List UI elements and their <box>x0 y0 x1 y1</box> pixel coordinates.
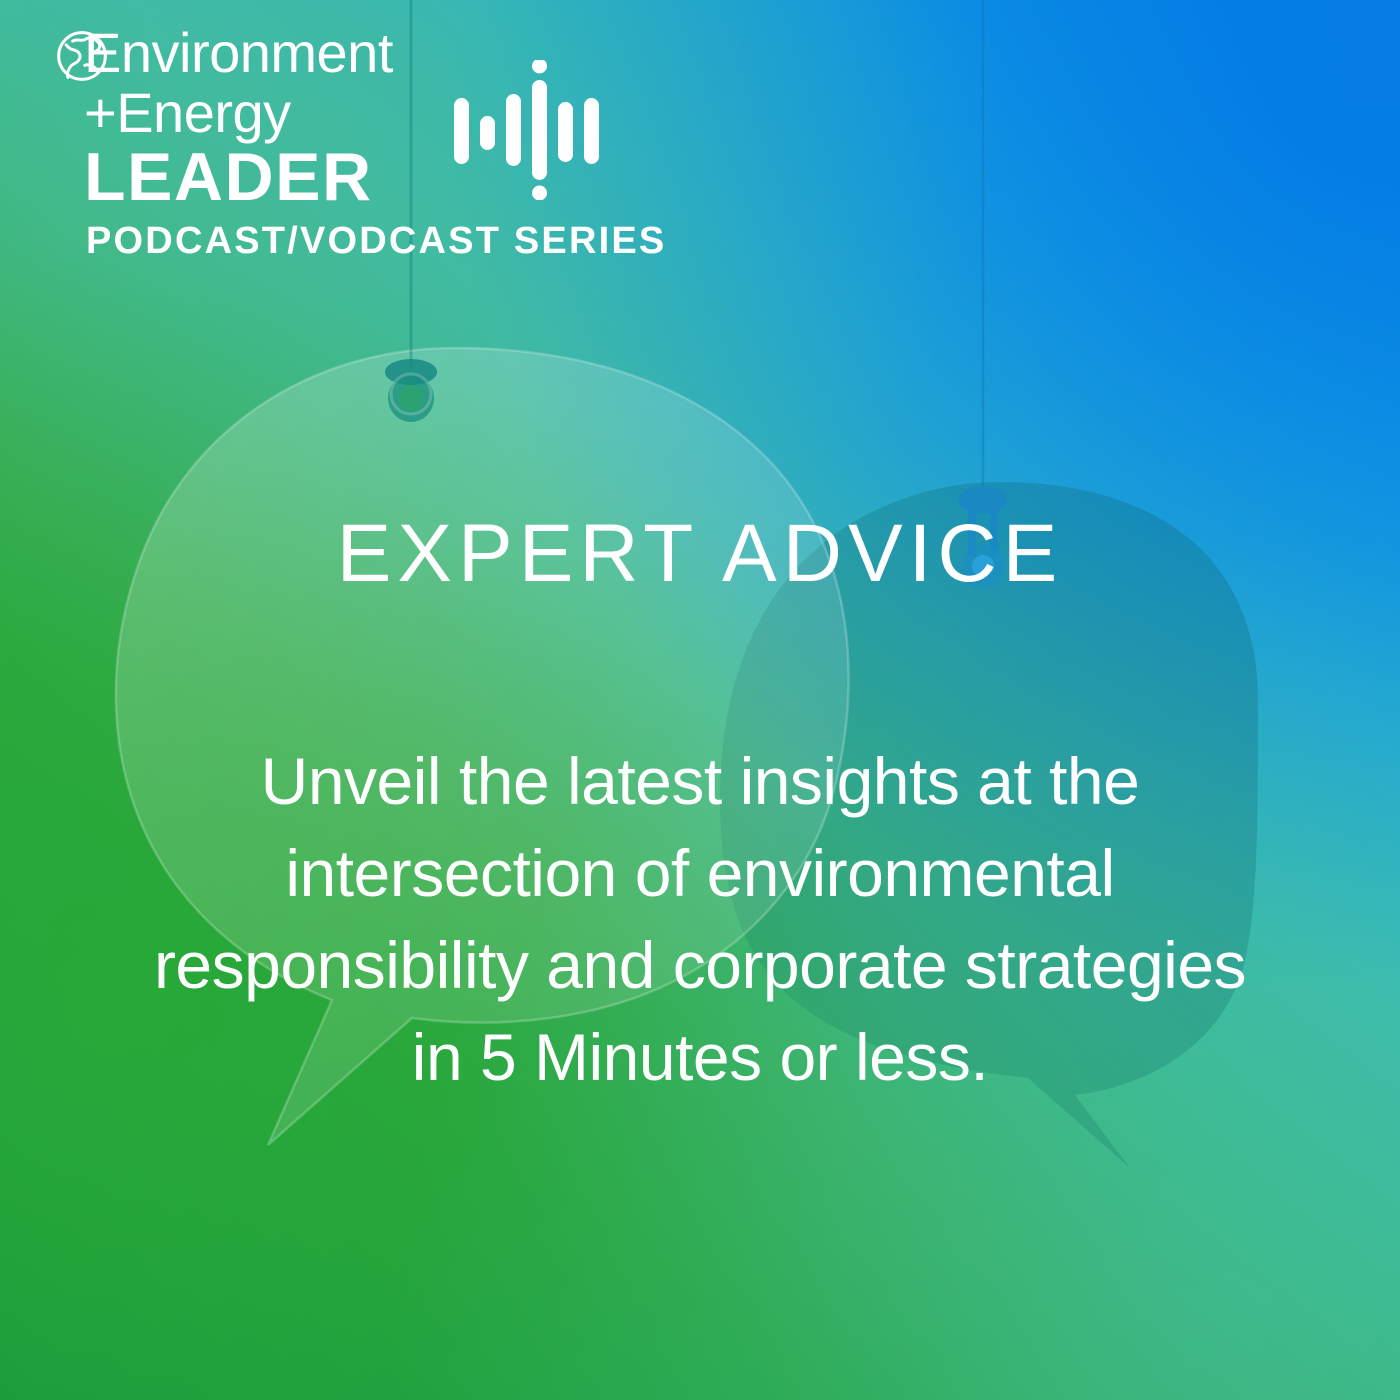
grommet-ring-left <box>388 374 434 422</box>
audio-waveform-icon <box>452 60 602 200</box>
podcast-promo-graphic: Environment +Energy LEADER PODCAST/VODCA… <box>0 0 1400 1400</box>
brand-logo: Environment +Energy LEADER PODCAST/VODCA… <box>46 22 746 266</box>
hero-description-line: Unveil the latest insights at the <box>100 735 1300 827</box>
hero-description-line: intersection of environmental <box>100 827 1300 919</box>
brand-name-environment: Environment <box>84 22 393 84</box>
hero-description-line: in 5 Minutes or less. <box>100 1011 1300 1103</box>
hero-description: Unveil the latest insights at the inters… <box>100 735 1300 1103</box>
brand-name-row: Environment <box>46 22 746 84</box>
hanging-string-right <box>959 0 1007 588</box>
brand-name-energy: +Energy <box>84 84 746 142</box>
page-title: EXPERT ADVICE <box>0 508 1400 600</box>
brand-tagline: PODCAST/VODCAST SERIES <box>86 216 746 266</box>
hero-description-line: responsibility and corporate strategies <box>100 919 1300 1011</box>
brand-name-leader: LEADER <box>84 144 746 210</box>
